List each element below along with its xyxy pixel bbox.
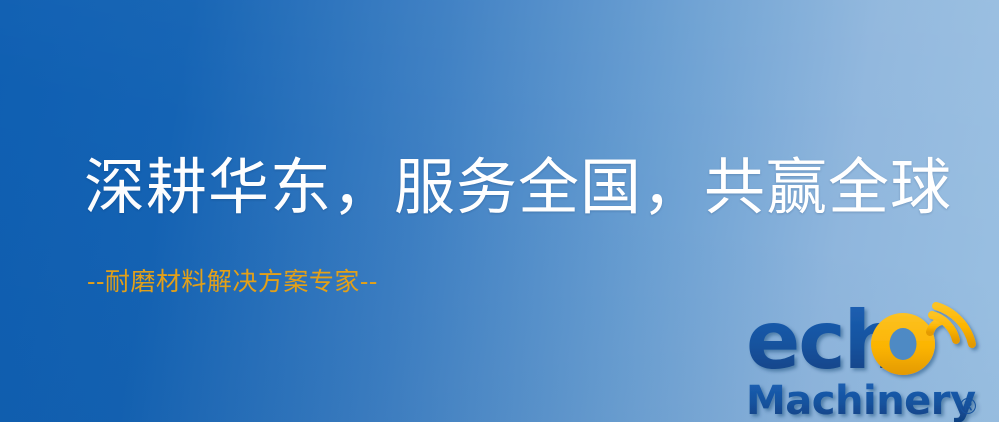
logo-machinery-text: Machinery <box>746 378 976 422</box>
page-title: 深耕华东，服务全国，共赢全球 <box>84 152 952 224</box>
signal-wave-icon <box>930 306 972 344</box>
logo-letter-o-yellow <box>871 313 935 375</box>
echo-machinery-logo-svg: ech Machinery ® <box>744 292 999 422</box>
logo-tagline-group: Machinery ® <box>746 378 979 422</box>
echo-wordmark-group: ech <box>746 294 972 387</box>
page-subtitle: --耐磨材料解决方案专家-- <box>87 266 378 298</box>
company-logo[interactable]: ech Machinery ® <box>744 292 999 422</box>
registered-trademark-icon: ® <box>957 395 979 420</box>
hero-banner: 深耕华东，服务全国，共赢全球 --耐磨材料解决方案专家-- <box>0 0 999 422</box>
